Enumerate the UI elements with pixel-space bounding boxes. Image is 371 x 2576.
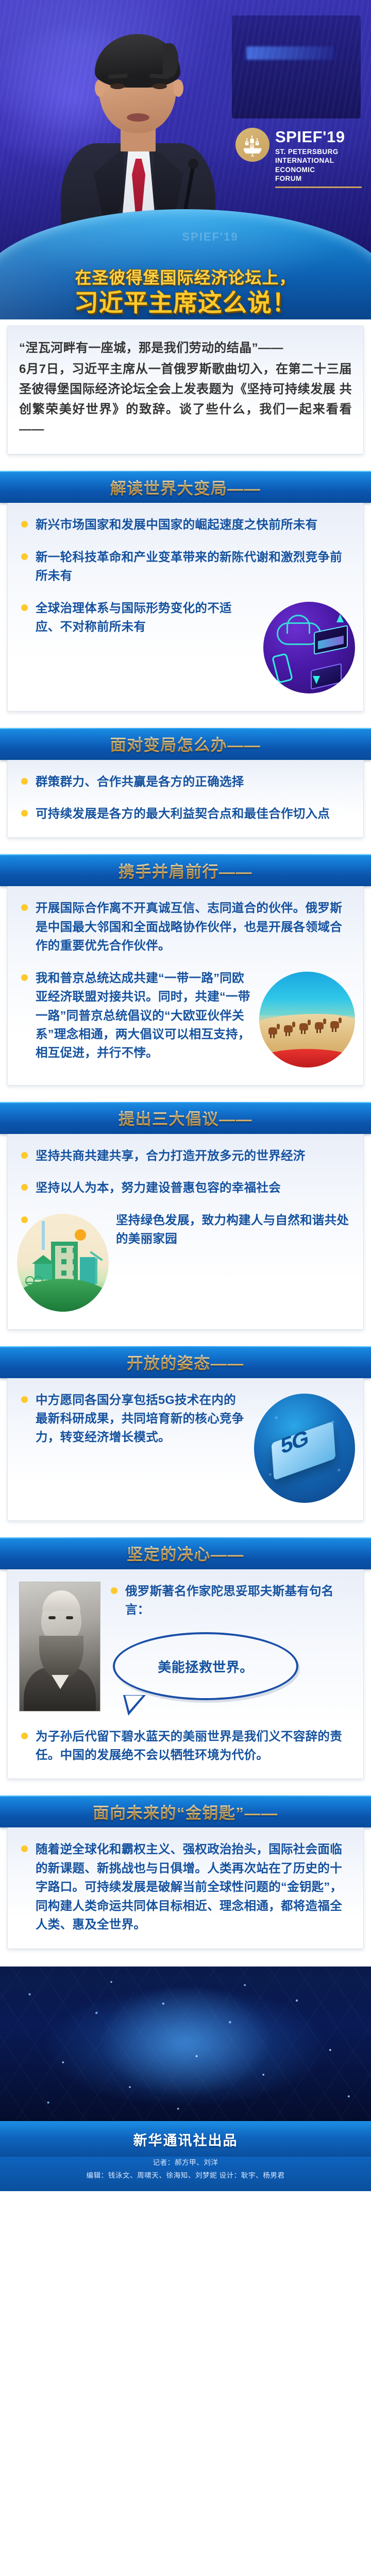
bullet-item: 新兴市场国家和发展中国家的崛起速度之快前所未有 bbox=[19, 515, 352, 534]
bullet-text: 俄罗斯著名作家陀思妥耶夫斯基有句名言： bbox=[125, 1584, 334, 1616]
section-title-6: 坚定的决心—— bbox=[127, 1541, 244, 1565]
bullet-dot-icon bbox=[21, 1184, 28, 1191]
section-header-6: 坚定的决心—— bbox=[0, 1537, 371, 1569]
section-card-7: 随着逆全球化和霸权主义、强权政治抬头，国际社会面临的新课题、新挑战也与日俱增。人… bbox=[7, 1827, 364, 1948]
credit-editors: 编辑：钱泳文、周啸天、徐海知、刘梦妮 设计：耿宇、杨男君 bbox=[0, 2170, 371, 2182]
bullet-item: 随着逆全球化和霸权主义、强权政治抬头，国际社会面临的新课题、新挑战也与日俱增。人… bbox=[19, 1840, 352, 1934]
section-title-7: 面向未来的“金钥匙”—— bbox=[93, 1800, 278, 1823]
publisher-bar: 新华通讯社出品 bbox=[0, 2121, 371, 2157]
section-body-1: 新兴市场国家和发展中国家的崛起速度之快前所未有 新一轮科技革命和产业变革带来的新… bbox=[0, 503, 371, 711]
section-header-7: 面向未来的“金钥匙”—— bbox=[0, 1795, 371, 1827]
bullet-text: 随着逆全球化和霸权主义、强权政治抬头，国际社会面临的新课题、新挑战也与日俱增。人… bbox=[36, 1842, 342, 1931]
section-title-2: 面对变局怎么办—— bbox=[110, 732, 261, 755]
spief-logo: SPIEF'19 ST. PETERSBURGINTERNATIONALECON… bbox=[235, 128, 362, 188]
headline-line-1: 在圣彼得堡国际经济论坛上， bbox=[7, 268, 364, 288]
intro-section: “涅瓦河畔有一座城，那是我们劳动的结晶”—— 6月7日，习近平主席从一首俄罗斯歌… bbox=[0, 326, 371, 454]
bullet-item: 坚持共商共建共享，合力打造开放多元的世界经济 bbox=[19, 1146, 352, 1165]
bullet-item: 全球治理体系与国际形势变化的不适应、不对称前所未有 bbox=[19, 599, 352, 636]
bullet-dot-icon bbox=[21, 604, 28, 611]
section-card-6: 俄罗斯著名作家陀思妥耶夫斯基有句名言： 美能拯救世界。 为子孙后代留下碧水蓝天的… bbox=[7, 1569, 364, 1780]
section-body-4: 坚持共商共建共享，合力打造开放多元的世界经济 坚持以人为本，努力建设普惠包容的幸… bbox=[0, 1134, 371, 1330]
section-title-3: 携手并肩前行—— bbox=[119, 859, 252, 882]
quote-text: 美能拯救世界。 bbox=[158, 1657, 254, 1676]
section-card-1: 新兴市场国家和发展中国家的崛起速度之快前所未有 新一轮科技革命和产业变革带来的新… bbox=[7, 503, 364, 711]
section-header-4: 提出三大倡议—— bbox=[0, 1102, 371, 1134]
bullet-dot-icon bbox=[21, 553, 28, 560]
hero-banner: SPIEF'19 ST. PETERSBURGINTERNATIONALECON… bbox=[0, 0, 371, 319]
spief-logo-subtitle: ST. PETERSBURGINTERNATIONALECONOMICFORUM bbox=[275, 147, 362, 183]
bullet-item: 俄罗斯著名作家陀思妥耶夫斯基有句名言： bbox=[109, 1582, 352, 1619]
section-title-5: 开放的姿态—— bbox=[127, 1350, 244, 1374]
bullet-text: 为子孙后代留下碧水蓝天的美丽世界是我们义不容辞的责任。中国的发展绝不会以牺牲环境… bbox=[36, 1730, 342, 1761]
bullet-text: 全球治理体系与国际形势变化的不适应、不对称前所未有 bbox=[36, 601, 232, 633]
section-body-5: 5G 中方愿同各国分享包括5G技术在内的最新科研成果，共同培育新的核心竞争力，转… bbox=[0, 1378, 371, 1521]
bullet-text: 新兴市场国家和发展中国家的崛起速度之快前所未有 bbox=[36, 518, 317, 531]
bullet-text: 坚持共商共建共享，合力打造开放多元的世界经济 bbox=[36, 1149, 306, 1162]
intro-body: 6月7日，习近平主席从一首俄罗斯歌曲切入，在第二十三届圣彼得堡国际经济论坛全会上… bbox=[19, 360, 352, 440]
credits-block: 记者：郝方甲、刘洋 编辑：钱泳文、周啸天、徐海知、刘梦妮 设计：耿宇、杨男君 bbox=[0, 2157, 371, 2192]
publisher-name: 新华通讯社出品 bbox=[0, 2129, 371, 2149]
bullet-text: 开展国际合作离不开真诚互信、志同道合的伙伴。俄罗斯是中国最大邻国和全面战略协作伙… bbox=[36, 901, 342, 952]
section-header-3: 携手并肩前行—— bbox=[0, 854, 371, 886]
section-body-3: 开展国际合作离不开真诚互信、志同道合的伙伴。俄罗斯是中国最大邻国和全面战略协作伙… bbox=[0, 886, 371, 1085]
section-body-2: 群策群力、合作共赢是各方的正确选择 可持续发展是各方的最大利益契合点和最佳合作切… bbox=[0, 760, 371, 838]
section-card-3: 开展国际合作离不开真诚互信、志同道合的伙伴。俄罗斯是中国最大邻国和全面战略协作伙… bbox=[7, 886, 364, 1085]
bullet-item: 为子孙后代留下碧水蓝天的美丽世界是我们义不容辞的责任。中国的发展绝不会以牺牲环境… bbox=[19, 1727, 352, 1765]
section-header-2: 面对变局怎么办—— bbox=[0, 728, 371, 760]
podium-ghost-logo: SPIEF'19 bbox=[182, 230, 238, 244]
bullet-item: 坚持绿色发展，致力构建人与自然和谐共处的美丽家园 bbox=[19, 1211, 352, 1248]
section-body-7: 随着逆全球化和霸权主义、强权政治抬头，国际社会面临的新课题、新挑战也与日俱增。人… bbox=[0, 1827, 371, 1948]
bullet-dot-icon bbox=[21, 974, 28, 981]
bullet-dot-icon bbox=[21, 1396, 28, 1403]
headline-line-2: 习近平主席这么说！ bbox=[7, 290, 364, 316]
section-header-1: 解读世界大变局—— bbox=[0, 471, 371, 503]
bullet-item: 坚持以人为本，努力建设普惠包容的幸福社会 bbox=[19, 1178, 352, 1197]
bullet-text: 新一轮科技革命和产业变革带来的新陈代谢和激烈竞争前所未有 bbox=[36, 550, 342, 582]
bullet-text: 中方愿同各国分享包括5G技术在内的最新科研成果，共同培育新的核心竞争力，转变经济… bbox=[36, 1393, 244, 1444]
bullet-dot-icon bbox=[21, 810, 28, 817]
bullet-item: 新一轮科技革命和产业变革带来的新陈代谢和激烈竞争前所未有 bbox=[19, 548, 352, 585]
credit-reporters: 记者：郝方甲、刘洋 bbox=[0, 2157, 371, 2170]
section-title-1: 解读世界大变局—— bbox=[110, 476, 261, 499]
section-card-2: 群策群力、合作共赢是各方的正确选择 可持续发展是各方的最大利益契合点和最佳合作切… bbox=[7, 760, 364, 838]
bullet-dot-icon bbox=[111, 1587, 117, 1594]
bullet-item: 群策群力、合作共赢是各方的正确选择 bbox=[19, 772, 352, 791]
bullet-text: 我和普京总统达成共建“一带一路”同欧亚经济联盟对接共识。同时，共建“一带一路”同… bbox=[36, 971, 250, 1060]
intro-card: “涅瓦河畔有一座城，那是我们劳动的结晶”—— 6月7日，习近平主席从一首俄罗斯歌… bbox=[7, 326, 364, 454]
bullet-dot-icon bbox=[21, 904, 28, 911]
bullet-dot-icon bbox=[21, 778, 28, 785]
bullet-dot-icon bbox=[21, 521, 28, 528]
section-body-6: 俄罗斯著名作家陀思妥耶夫斯基有句名言： 美能拯救世界。 为子孙后代留下碧水蓝天的… bbox=[0, 1569, 371, 1780]
bullet-item: 开展国际合作离不开真诚互信、志同道合的伙伴。俄罗斯是中国最大邻国和全面战略协作伙… bbox=[19, 899, 352, 955]
dostoevsky-portrait-icon bbox=[19, 1582, 100, 1711]
bullet-text: 可持续发展是各方的最大利益契合点和最佳合作切入点 bbox=[36, 807, 330, 820]
bullet-dot-icon bbox=[21, 1152, 28, 1159]
bullet-dot-icon bbox=[21, 1845, 28, 1852]
bullet-dot-icon bbox=[21, 1216, 28, 1223]
intro-quote: “涅瓦河畔有一座城，那是我们劳动的结晶”—— bbox=[19, 338, 352, 359]
sailing-ship-icon bbox=[235, 128, 269, 162]
bullet-item: 可持续发展是各方的最大利益契合点和最佳合作切入点 bbox=[19, 804, 352, 823]
bullet-item: 我和普京总统达成共建“一带一路”同欧亚经济联盟对接共识。同时，共建“一带一路”同… bbox=[19, 969, 352, 1062]
bullet-dot-icon bbox=[21, 1733, 28, 1739]
section-card-4: 坚持共商共建共享，合力打造开放多元的世界经济 坚持以人为本，努力建设普惠包容的幸… bbox=[7, 1134, 364, 1330]
bullet-text: 群策群力、合作共赢是各方的正确选择 bbox=[36, 775, 244, 788]
infographic-poster: SPIEF'19 ST. PETERSBURGINTERNATIONALECON… bbox=[0, 0, 371, 2191]
starfield-decoration bbox=[0, 1967, 371, 2121]
spief-logo-name: SPIEF'19 bbox=[275, 129, 362, 145]
bullet-item: 中方愿同各国分享包括5G技术在内的最新科研成果，共同培育新的核心竞争力，转变经济… bbox=[19, 1391, 352, 1447]
section-title-4: 提出三大倡议—— bbox=[119, 1106, 252, 1129]
bullet-text: 坚持以人为本，努力建设普惠包容的幸福社会 bbox=[36, 1181, 281, 1194]
quote-speech-bubble: 美能拯救世界。 bbox=[113, 1632, 298, 1700]
spief-logo-rule bbox=[275, 187, 362, 188]
section-card-5: 5G 中方愿同各国分享包括5G技术在内的最新科研成果，共同培育新的核心竞争力，转… bbox=[7, 1378, 364, 1521]
section-header-5: 开放的姿态—— bbox=[0, 1346, 371, 1378]
poster-headline: 在圣彼得堡国际经济论坛上， 习近平主席这么说！ bbox=[0, 268, 371, 316]
bullet-text: 坚持绿色发展，致力构建人与自然和谐共处的美丽家园 bbox=[116, 1213, 349, 1245]
